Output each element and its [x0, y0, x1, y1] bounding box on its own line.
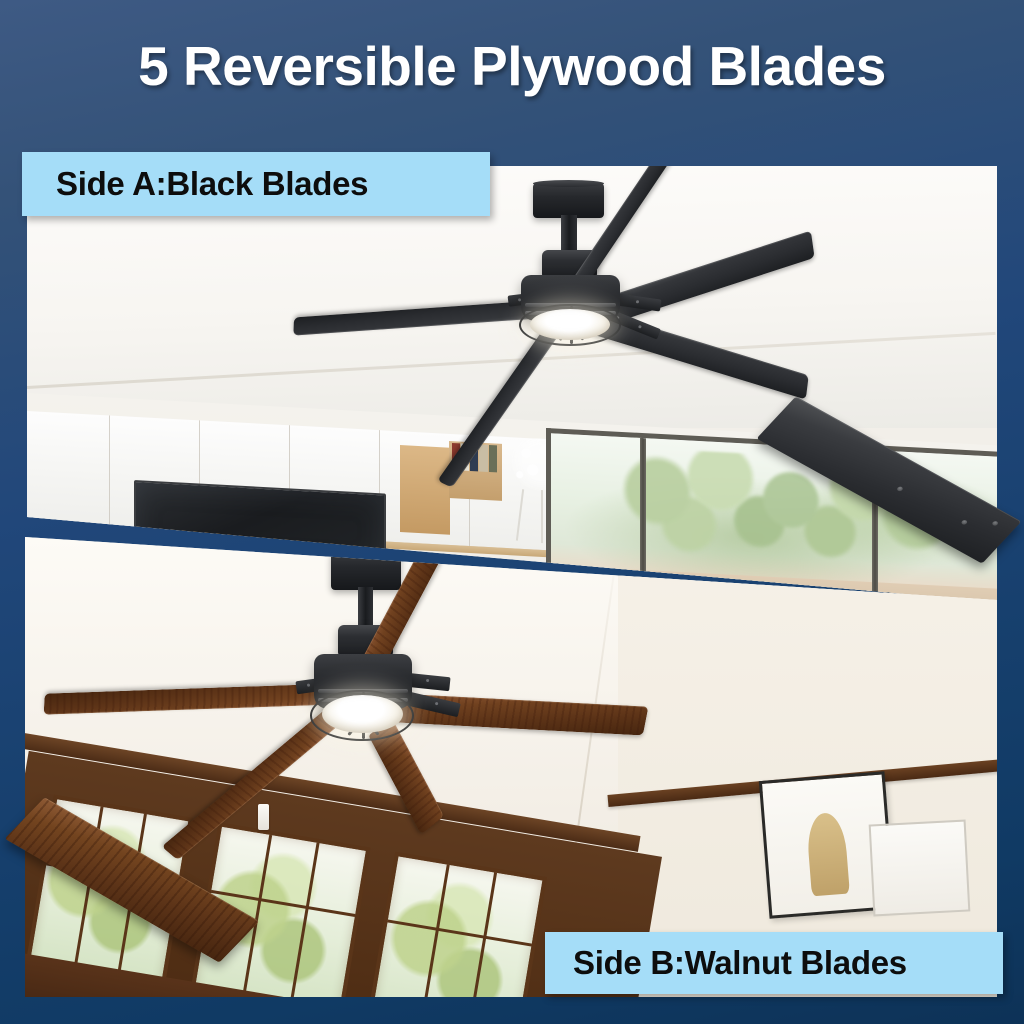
ceiling-fan-walnut	[44, 542, 744, 864]
badge-side-a-label: Side A:Black Blades	[56, 165, 368, 203]
badge-side-a: Side A:Black Blades	[22, 152, 490, 216]
page-title: 5 Reversible Plywood Blades	[138, 34, 886, 98]
badge-side-b: Side B:Walnut Blades	[545, 932, 1003, 994]
fan-canopy	[533, 183, 604, 218]
badge-side-b-label: Side B:Walnut Blades	[573, 944, 907, 982]
scene-modern-living-room	[27, 166, 997, 602]
wood-panel-accent	[400, 445, 450, 535]
product-photo-side-a	[27, 166, 997, 602]
fan-light-kit	[530, 309, 610, 340]
headline-bar: 5 Reversible Plywood Blades	[0, 0, 1024, 132]
fan-light-kit	[322, 695, 403, 734]
fan-canopy	[331, 551, 401, 590]
leaning-canvas	[868, 820, 970, 917]
